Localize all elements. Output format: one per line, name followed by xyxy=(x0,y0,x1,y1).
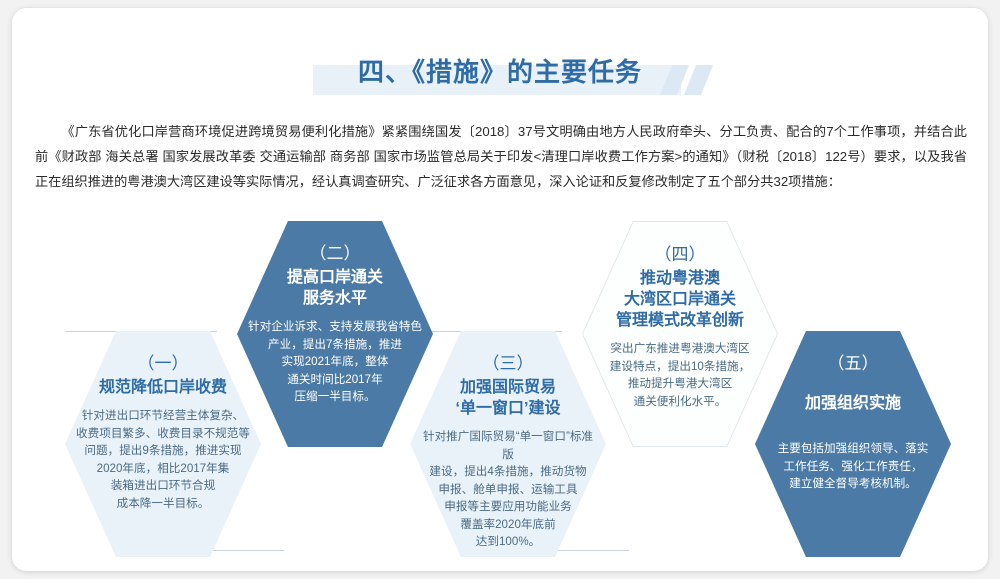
hexagon-1-number: （一） xyxy=(138,353,189,375)
hexagon-card-2[interactable]: （二） 提高口岸通关 服务水平 针对企业诉求、支持发展我省特色 产业，提出7条措… xyxy=(237,221,433,447)
hexagon-process-diagram: （一） 规范降低口岸收费 针对进出口环节经营主体复杂、 收费项目繁多、收费目录不… xyxy=(12,214,988,564)
page-title: 四、《措施》的主要任务 xyxy=(12,52,988,92)
hexagon-3-heading: 加强国际贸易 ‘单一窗口’建设 xyxy=(456,377,561,419)
hexagon-5-number: （五） xyxy=(828,353,879,375)
hexagon-5-heading: 加强组织实施 xyxy=(805,393,901,414)
section-title-block: 四、《措施》的主要任务 xyxy=(12,52,988,96)
hexagon-card-5[interactable]: （五） 加强组织实施 主要包括加强组织领导、落实 工作任务、强化工作责任， 建立… xyxy=(755,331,951,557)
hexagon-3-number: （三） xyxy=(483,353,534,375)
intro-paragraph: 《广东省优化口岸营商环境促进跨境贸易便利化措施》紧紧围绕国发〔2018〕37号文… xyxy=(35,119,967,194)
hexagon-2-number: （二） xyxy=(310,243,361,265)
hexagon-2-body: 针对企业诉求、支持发展我省特色 产业，提出7条措施，推进 实现2021年底，整体… xyxy=(246,318,424,406)
document-page: 四、《措施》的主要任务 《广东省优化口岸营商环境促进跨境贸易便利化措施》紧紧围绕… xyxy=(12,8,988,571)
hexagon-3-body: 针对推广国际贸易“单一窗口”标准版 建设，提出4条措施，推动货物 申报、舱单申报… xyxy=(419,428,597,551)
hexagon-card-4[interactable]: （四） 推动粤港澳 大湾区口岸通关 管理模式改革创新 突出广东推进粤港澳大湾区 … xyxy=(583,222,777,446)
hexagon-1-heading: 规范降低口岸收费 xyxy=(99,377,227,398)
hexagon-4-number: （四） xyxy=(655,244,706,266)
hexagon-4-heading: 推动粤港澳 大湾区口岸通关 管理模式改革创新 xyxy=(616,268,744,331)
hexagon-5-body: 主要包括加强组织领导、落实 工作任务、强化工作责任， 建立健全督导考核机制。 xyxy=(764,440,942,493)
hexagon-4-body: 突出广东推进粤港澳大湾区 建设特点，提出10条措施， 推动提升粤港大湾区 通关便… xyxy=(591,340,769,410)
hexagon-card-1[interactable]: （一） 规范降低口岸收费 针对进出口环节经营主体复杂、 收费项目繁多、收费目录不… xyxy=(65,331,261,557)
hexagon-card-3[interactable]: （三） 加强国际贸易 ‘单一窗口’建设 针对推广国际贸易“单一窗口”标准版 建设… xyxy=(410,331,606,557)
hexagon-1-body: 针对进出口环节经营主体复杂、 收费项目繁多、收费目录不规范等 问题，提出9条措施… xyxy=(74,407,252,512)
hexagon-2-heading: 提高口岸通关 服务水平 xyxy=(287,267,383,309)
